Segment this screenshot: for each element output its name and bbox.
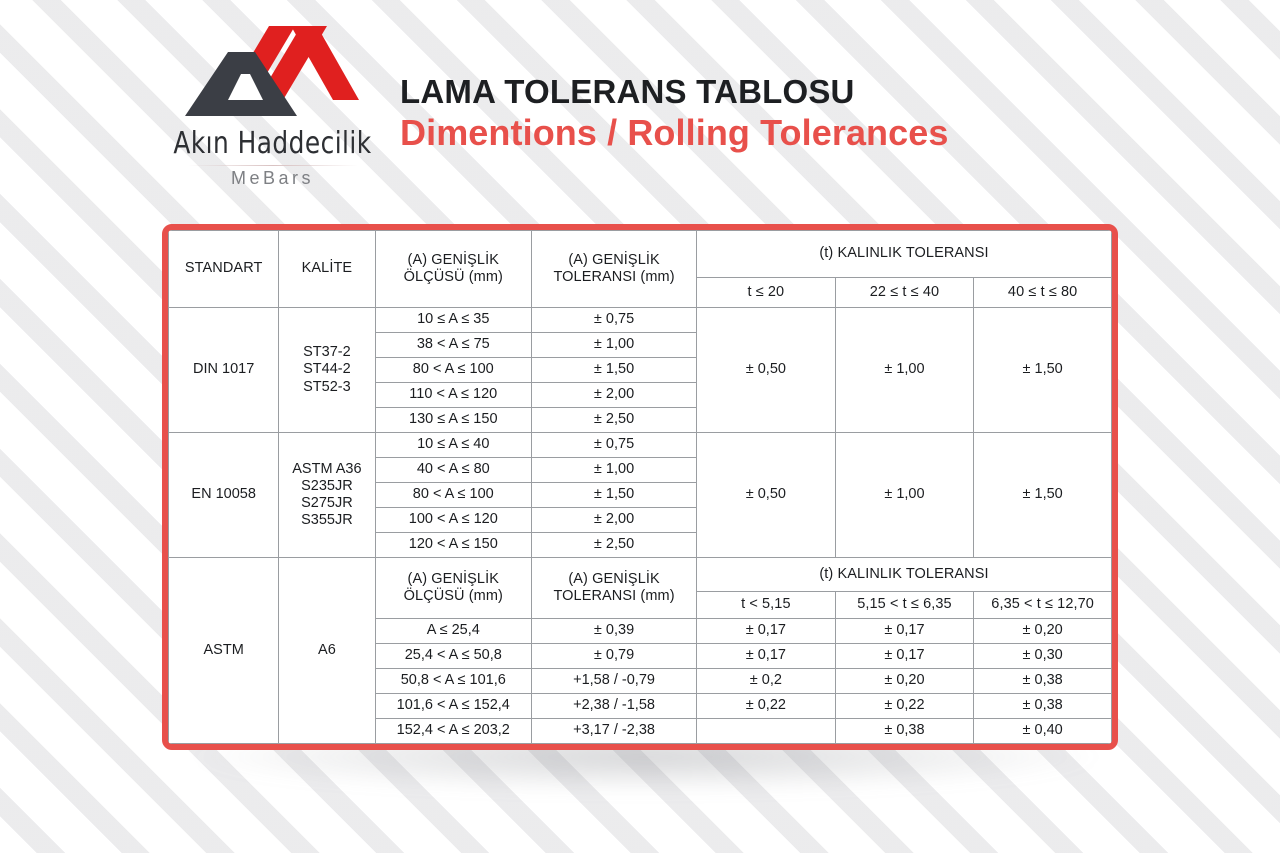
grade-item: ST37-2	[281, 344, 372, 361]
width-tolerance: +2,38 / -1,58	[532, 694, 697, 719]
header-width-tol: (A) GENİŞLİK TOLERANSI (mm)	[532, 231, 697, 308]
thickness-tolerance-1: ± 0,50	[697, 308, 836, 433]
header-thickness-astm-col-2: 5,15 < t ≤ 6,35	[835, 592, 974, 619]
width-range: 25,4 < A ≤ 50,8	[375, 644, 532, 669]
width-range: 100 < A ≤ 120	[375, 508, 532, 533]
brand-divider	[188, 165, 358, 166]
header-thickness-col-2: 22 ≤ t ≤ 40	[835, 278, 974, 308]
width-tolerance: ± 2,50	[532, 408, 697, 433]
width-range: 40 < A ≤ 80	[375, 458, 532, 483]
page-title: LAMA TOLERANS TABLOSU	[400, 74, 949, 111]
thickness-tolerance-1: ± 0,2	[697, 669, 836, 694]
tolerance-table-container: STANDART KALİTE (A) GENİŞLİK ÖLÇÜSÜ (mm)…	[162, 224, 1118, 750]
width-tolerance: ± 0,79	[532, 644, 697, 669]
thickness-tolerance-2: ± 0,38	[835, 719, 974, 744]
brand-subtitle: MeBars	[160, 168, 385, 189]
width-range: A ≤ 25,4	[375, 619, 532, 644]
width-tolerance: ± 0,75	[532, 308, 697, 333]
header-width-size-line1: (A) GENİŞLİK	[378, 252, 530, 269]
table-header-row-1: STANDART KALİTE (A) GENİŞLİK ÖLÇÜSÜ (mm)…	[169, 231, 1112, 278]
width-tolerance: ± 2,50	[532, 533, 697, 558]
header-thickness-tol: (t) KALINLIK TOLERANSI	[697, 231, 1112, 278]
header-thickness-col-1: t ≤ 20	[697, 278, 836, 308]
width-range: 50,8 < A ≤ 101,6	[375, 669, 532, 694]
header-width-tol-astm-line2: TOLERANSI (mm)	[534, 588, 694, 605]
tolerance-table: STANDART KALİTE (A) GENİŞLİK ÖLÇÜSÜ (mm)…	[168, 230, 1112, 744]
header-width-size: (A) GENİŞLİK ÖLÇÜSÜ (mm)	[375, 231, 532, 308]
astm-subheader-row-1: ASTM A6 (A) GENİŞLİK ÖLÇÜSÜ (mm) (A) GEN…	[169, 558, 1112, 592]
thickness-tolerance-3: ± 1,50	[974, 308, 1112, 433]
width-range: 38 < A ≤ 75	[375, 333, 532, 358]
header-width-size-astm-line1: (A) GENİŞLİK	[378, 571, 530, 588]
page-subtitle: Dimentions / Rolling Tolerances	[400, 113, 949, 153]
header-width-size-astm: (A) GENİŞLİK ÖLÇÜSÜ (mm)	[375, 558, 532, 619]
brand-name: Akın Haddecilik	[169, 126, 376, 161]
grades-astm: A6	[279, 558, 375, 744]
width-tolerance: +1,58 / -0,79	[532, 669, 697, 694]
width-range: 110 < A ≤ 120	[375, 383, 532, 408]
width-range: 80 < A ≤ 100	[375, 483, 532, 508]
grade-item: ASTM A36	[281, 461, 372, 478]
header-thickness-tol-astm: (t) KALINLIK TOLERANSI	[697, 558, 1112, 592]
width-range: 10 ≤ A ≤ 35	[375, 308, 532, 333]
table-row: EN 10058 ASTM A36 S235JR S275JR S355JR 1…	[169, 433, 1112, 458]
grade-item: S235JR	[281, 478, 372, 495]
title-block: LAMA TOLERANS TABLOSU Dimentions / Rolli…	[400, 74, 949, 153]
thickness-tolerance-3: ± 1,50	[974, 433, 1112, 558]
thickness-tolerance-2: ± 0,22	[835, 694, 974, 719]
thickness-tolerance-2: ± 0,17	[835, 619, 974, 644]
chevron-mountain-logo-icon	[173, 22, 373, 122]
thickness-tolerance-1	[697, 719, 836, 744]
header-width-size-line2: ÖLÇÜSÜ (mm)	[378, 269, 530, 286]
width-tolerance: +3,17 / -2,38	[532, 719, 697, 744]
grade-item: S355JR	[281, 512, 372, 529]
table-row: DIN 1017 ST37-2 ST44-2 ST52-3 10 ≤ A ≤ 3…	[169, 308, 1112, 333]
thickness-tolerance-2: ± 0,20	[835, 669, 974, 694]
thickness-tolerance-2: ± 1,00	[835, 433, 974, 558]
width-range: 101,6 < A ≤ 152,4	[375, 694, 532, 719]
thickness-tolerance-3: ± 0,38	[974, 694, 1112, 719]
grades-din1017: ST37-2 ST44-2 ST52-3	[279, 308, 375, 433]
page-root: Akın Haddecilik MeBars LAMA TOLERANS TAB…	[0, 0, 1280, 853]
width-tolerance: ± 2,00	[532, 383, 697, 408]
thickness-tolerance-2: ± 0,17	[835, 644, 974, 669]
header-width-tol-line1: (A) GENİŞLİK	[534, 252, 694, 269]
grade-item: ST52-3	[281, 379, 372, 396]
standard-astm: ASTM	[169, 558, 279, 744]
header-thickness-astm-col-3: 6,35 < t ≤ 12,70	[974, 592, 1112, 619]
width-tolerance: ± 2,00	[532, 508, 697, 533]
header-width-tol-astm-line1: (A) GENİŞLİK	[534, 571, 694, 588]
thickness-tolerance-2: ± 1,00	[835, 308, 974, 433]
header-thickness-col-3: 40 ≤ t ≤ 80	[974, 278, 1112, 308]
width-range: 152,4 < A ≤ 203,2	[375, 719, 532, 744]
brand-logo-block: Akın Haddecilik MeBars	[160, 22, 385, 202]
width-tolerance: ± 1,50	[532, 358, 697, 383]
width-tolerance: ± 1,50	[532, 483, 697, 508]
header-kalite: KALİTE	[279, 231, 375, 308]
thickness-tolerance-1: ± 0,22	[697, 694, 836, 719]
width-range: 120 < A ≤ 150	[375, 533, 532, 558]
width-tolerance: ± 1,00	[532, 458, 697, 483]
width-range: 130 ≤ A ≤ 150	[375, 408, 532, 433]
grade-item: S275JR	[281, 495, 372, 512]
width-range: 10 ≤ A ≤ 40	[375, 433, 532, 458]
thickness-tolerance-3: ± 0,40	[974, 719, 1112, 744]
width-tolerance: ± 0,75	[532, 433, 697, 458]
header-thickness-astm-col-1: t < 5,15	[697, 592, 836, 619]
header-width-tol-astm: (A) GENİŞLİK TOLERANSI (mm)	[532, 558, 697, 619]
header-standart: STANDART	[169, 231, 279, 308]
standard-en10058: EN 10058	[169, 433, 279, 558]
thickness-tolerance-1: ± 0,17	[697, 644, 836, 669]
thickness-tolerance-3: ± 0,38	[974, 669, 1112, 694]
thickness-tolerance-3: ± 0,30	[974, 644, 1112, 669]
page-header: Akın Haddecilik MeBars LAMA TOLERANS TAB…	[0, 0, 1280, 215]
header-width-size-astm-line2: ÖLÇÜSÜ (mm)	[378, 588, 530, 605]
thickness-tolerance-1: ± 0,17	[697, 619, 836, 644]
width-tolerance: ± 0,39	[532, 619, 697, 644]
grades-en10058: ASTM A36 S235JR S275JR S355JR	[279, 433, 375, 558]
header-width-tol-line2: TOLERANSI (mm)	[534, 269, 694, 286]
thickness-tolerance-1: ± 0,50	[697, 433, 836, 558]
thickness-tolerance-3: ± 0,20	[974, 619, 1112, 644]
grade-item: ST44-2	[281, 361, 372, 378]
width-tolerance: ± 1,00	[532, 333, 697, 358]
standard-din1017: DIN 1017	[169, 308, 279, 433]
width-range: 80 < A ≤ 100	[375, 358, 532, 383]
